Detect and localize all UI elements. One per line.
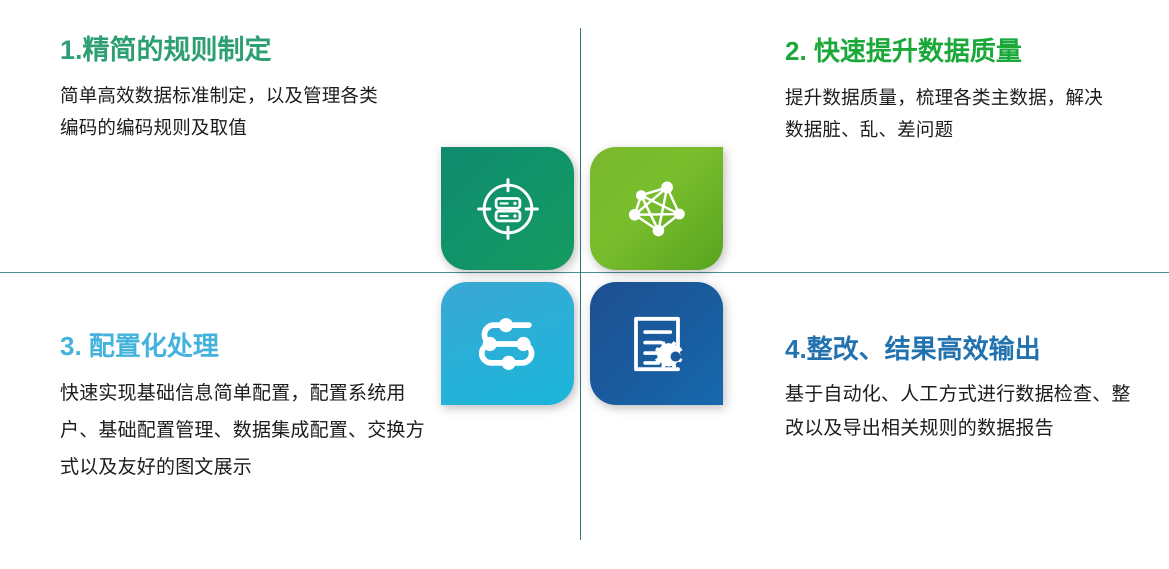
tile-quality[interactable] <box>590 147 723 270</box>
quadrant-3-body: 快速实现基础信息简单配置，配置系统用户、基础配置管理、数据集成配置、交换方式以及… <box>60 375 438 486</box>
tile-standard[interactable] <box>441 147 574 270</box>
network-graph-icon <box>621 173 693 245</box>
infographic-root: 1.精简的规则制定 简单高效数据标准制定，以及管理各类编码的编码规则及取值 2.… <box>0 0 1169 569</box>
quadrant-2-body: 提升数据质量，梳理各类主数据，解决数据脏、乱、差问题 <box>785 82 1103 146</box>
tile-report[interactable] <box>590 282 723 405</box>
quadrant-3-title: 3. 配置化处理 <box>60 331 450 363</box>
tile-config[interactable] <box>441 282 574 405</box>
quadrant-1: 1.精简的规则制定 简单高效数据标准制定，以及管理各类编码的编码规则及取值 <box>60 34 400 144</box>
quadrant-4: 4.整改、结果高效输出 基于自动化、人工方式进行数据检查、整改以及导出相关规则的… <box>785 334 1165 447</box>
quadrant-3: 3. 配置化处理 快速实现基础信息简单配置，配置系统用户、基础配置管理、数据集成… <box>60 331 450 486</box>
database-target-icon <box>473 174 543 244</box>
quadrant-1-title: 1.精简的规则制定 <box>60 34 400 67</box>
quadrant-4-title: 4.整改、结果高效输出 <box>785 334 1165 366</box>
center-icon-cluster <box>441 147 723 405</box>
quadrant-4-body: 基于自动化、人工方式进行数据检查、整改以及导出相关规则的数据报告 <box>785 378 1145 447</box>
flow-path-icon <box>471 311 545 377</box>
quadrant-2-title: 2. 快速提升数据质量 <box>785 36 1145 68</box>
quadrant-1-body: 简单高效数据标准制定，以及管理各类编码的编码规则及取值 <box>60 80 382 144</box>
quadrant-2: 2. 快速提升数据质量 提升数据质量，梳理各类主数据，解决数据脏、乱、差问题 <box>785 36 1145 146</box>
document-gear-icon <box>622 309 692 379</box>
